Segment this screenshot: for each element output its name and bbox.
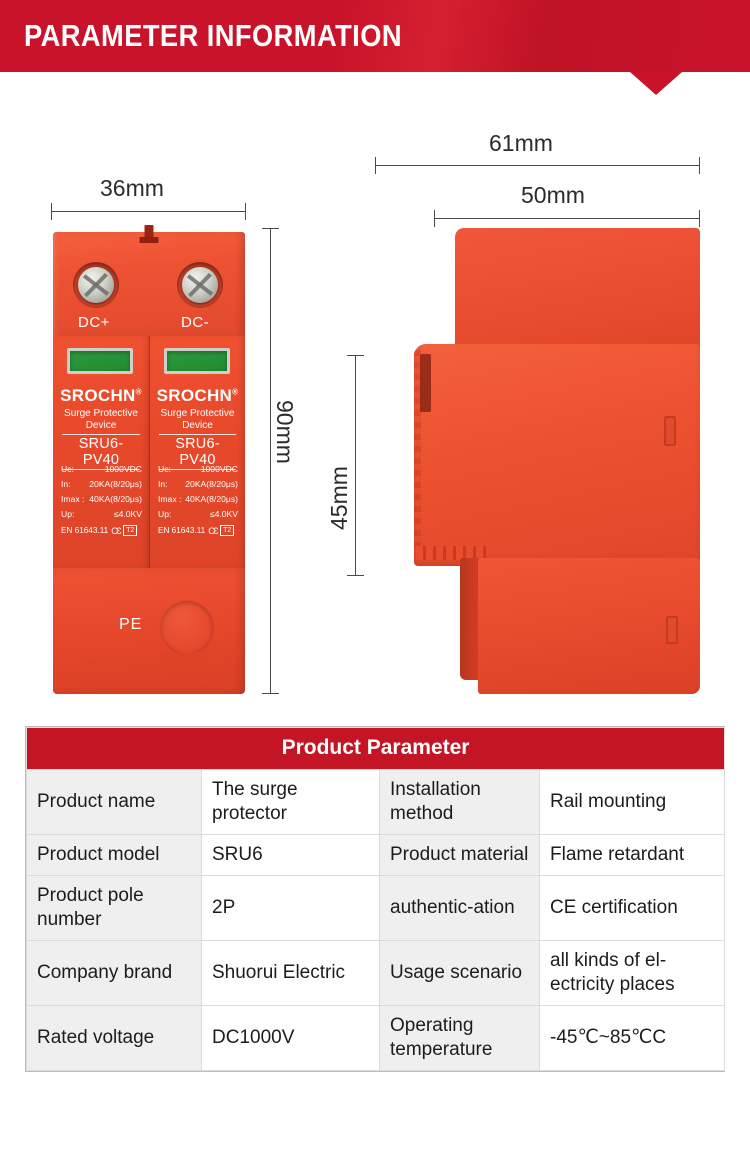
param-value: Rail mounting — [540, 770, 725, 835]
table-row: Rated voltage DC1000V Operating temperat… — [27, 1006, 725, 1071]
param-label: Company brand — [27, 941, 202, 1006]
device-subtitle: Surge Protective Device — [57, 408, 145, 431]
table-header-row: Product Parameter — [27, 728, 725, 770]
table-row: Company brand Shuorui Electric Usage sce… — [27, 941, 725, 1006]
dimension-tick-left-61 — [375, 157, 376, 174]
side-main-body — [414, 344, 700, 566]
param-value: Shuorui Electric — [202, 941, 380, 1006]
registered-mark: ® — [232, 387, 238, 396]
page-title: PARAMETER INFORMATION — [24, 18, 402, 54]
ce-mark-icon: CƐ — [111, 526, 120, 536]
earth-terminal-block: PE — [53, 568, 245, 694]
earth-terminal-foot — [163, 652, 209, 664]
earth-terminal-boss — [161, 601, 213, 653]
param-value: -45℃~85℃C — [540, 1006, 725, 1071]
class-t2-icon: T2 — [220, 525, 234, 536]
pole-module-1: SROCHN® Surge Protective Device SRU6-PV4… — [53, 336, 149, 568]
spec-row: Imax : 40KA(8/20μs) — [158, 492, 238, 507]
param-value: DC1000V — [202, 1006, 380, 1071]
dimension-tick-top-45 — [347, 355, 364, 356]
spec-value: 20KA(8/20μs) — [89, 477, 142, 492]
param-label: Rated voltage — [27, 1006, 202, 1071]
dimension-line-side-body — [434, 218, 700, 219]
spec-row: In: 20KA(8/20μs) — [61, 477, 142, 492]
spec-value: 40KA(8/20μs) — [185, 492, 238, 507]
standard-label: EN 61643.11 — [61, 526, 108, 535]
side-vent-slot — [420, 354, 431, 412]
dimension-line-side-height — [355, 355, 356, 575]
dimension-label-side-body: 50mm — [521, 182, 585, 209]
spec-row: Imax : 40KA(8/20μs) — [61, 492, 142, 507]
device-spec-list: Uc: 1000VDC In: 20KA(8/20μs) Imax : 40KA… — [61, 462, 142, 536]
side-din-rail-base — [478, 558, 700, 694]
dimension-tick-left-50 — [434, 210, 435, 227]
pole-module-2: SROCHN® Surge Protective Device SRU6-PV4… — [149, 336, 245, 568]
class-t2-icon: T2 — [123, 525, 137, 536]
dimension-tick-left-36 — [51, 203, 52, 220]
brand-name: SROCHN — [60, 386, 135, 405]
device-subtitle-line1: Surge Protective — [154, 408, 241, 420]
param-value: CE certification — [540, 876, 725, 941]
spec-row: In: 20KA(8/20μs) — [158, 477, 238, 492]
param-label: Product pole number — [27, 876, 202, 941]
table-row: Product model SRU6 Product material Flam… — [27, 835, 725, 876]
product-parameter-table: Product Parameter Product name The surge… — [25, 726, 725, 1072]
spec-row: Uc: 1000VDC — [158, 462, 238, 477]
terminal-screw-positive — [73, 262, 119, 308]
module-body: SROCHN® Surge Protective Device SRU6-PV4… — [53, 336, 245, 568]
param-value: all kinds of el-ectricity places — [540, 941, 725, 1006]
spec-row: Uc: 1000VDC — [61, 462, 142, 477]
spec-key: Up: — [61, 507, 74, 522]
param-label: Installation method — [380, 770, 540, 835]
spec-value: 1000VDC — [201, 462, 238, 477]
param-label: Usage scenario — [380, 941, 540, 1006]
terminal-block-top: DC+ DC- — [53, 232, 245, 336]
spec-value: 20KA(8/20μs) — [185, 477, 238, 492]
spec-key: Imax : — [61, 492, 84, 507]
screw-head-icon — [182, 267, 218, 303]
terminal-label-positive: DC+ — [78, 314, 110, 331]
brand-logo: SROCHN® — [53, 386, 149, 406]
spec-value: ≤4.0KV — [210, 507, 238, 522]
device-front-view: DC+ DC- SROCHN® Surge Protective Device … — [53, 232, 245, 694]
device-subtitle-line1: Surge Protective — [57, 408, 145, 420]
table-row: Product pole number 2P authentic-ation C… — [27, 876, 725, 941]
spec-row: Up: ≤4.0KV — [61, 507, 142, 522]
status-indicator-window — [164, 348, 230, 374]
registered-mark: ® — [136, 387, 142, 396]
param-value: The surge protector — [202, 770, 380, 835]
certification-row: EN 61643.11 CƐ T2 — [61, 525, 142, 536]
dimension-tick-bottom-45 — [347, 575, 364, 576]
page-header-banner: PARAMETER INFORMATION — [0, 0, 750, 72]
spec-value: 1000VDC — [105, 462, 142, 477]
dimension-tick-right-36 — [245, 203, 246, 220]
param-label: Product name — [27, 770, 202, 835]
param-label: Product material — [380, 835, 540, 876]
banner-notch-triangle — [630, 72, 682, 95]
param-label: Operating temperature — [380, 1006, 540, 1071]
mounting-tab — [145, 225, 154, 243]
param-value: Flame retardant — [540, 835, 725, 876]
spec-value: ≤4.0KV — [114, 507, 142, 522]
dimension-tick-right-50 — [699, 210, 700, 227]
dimension-label-front-height: 90mm — [271, 400, 298, 464]
side-latch-slot-bottom — [666, 616, 678, 644]
dimension-line-side-total — [375, 165, 700, 166]
dimension-line-front-width — [51, 211, 246, 212]
spec-key: Imax : — [158, 492, 181, 507]
dimension-tick-bottom-90 — [262, 693, 279, 694]
earth-label: PE — [119, 616, 142, 634]
spec-value: 40KA(8/20μs) — [89, 492, 142, 507]
dimension-label-front-width: 36mm — [100, 175, 164, 202]
spec-key: Uc: — [158, 462, 171, 477]
spec-row: Up: ≤4.0KV — [158, 507, 238, 522]
spec-key: In: — [61, 477, 71, 492]
device-subtitle-line2: Device — [154, 420, 241, 432]
dimension-label-side-total: 61mm — [489, 130, 553, 157]
table-row: Product name The surge protector Install… — [27, 770, 725, 835]
brand-logo: SROCHN® — [150, 386, 245, 406]
param-label: Product model — [27, 835, 202, 876]
device-side-view — [388, 228, 700, 694]
spec-key: Uc: — [61, 462, 74, 477]
product-spec-page: PARAMETER INFORMATION 36mm 90mm DC+ DC- … — [0, 0, 750, 1150]
device-spec-list: Uc: 1000VDC In: 20KA(8/20μs) Imax : 40KA… — [158, 462, 238, 536]
param-label: authentic-ation — [380, 876, 540, 941]
side-terminal-housing — [455, 228, 700, 356]
param-value: 2P — [202, 876, 380, 941]
standard-label: EN 61643.11 — [158, 526, 205, 535]
device-subtitle-line2: Device — [57, 420, 145, 432]
dimension-tick-top-90 — [262, 228, 279, 229]
brand-name: SROCHN — [157, 386, 232, 405]
ce-mark-icon: CƐ — [208, 526, 217, 536]
spec-key: In: — [158, 477, 168, 492]
terminal-label-negative: DC- — [181, 314, 209, 331]
param-value: SRU6 — [202, 835, 380, 876]
device-subtitle: Surge Protective Device — [154, 408, 241, 431]
dimension-tick-right-61 — [699, 157, 700, 174]
certification-row: EN 61643.11 CƐ T2 — [158, 525, 238, 536]
spec-key: Up: — [158, 507, 171, 522]
terminal-screw-negative — [177, 262, 223, 308]
screw-head-icon — [78, 267, 114, 303]
dimension-label-side-height: 45mm — [326, 466, 353, 530]
table-title: Product Parameter — [27, 728, 725, 770]
side-latch-slot-top — [664, 416, 676, 446]
status-indicator-window — [67, 348, 133, 374]
